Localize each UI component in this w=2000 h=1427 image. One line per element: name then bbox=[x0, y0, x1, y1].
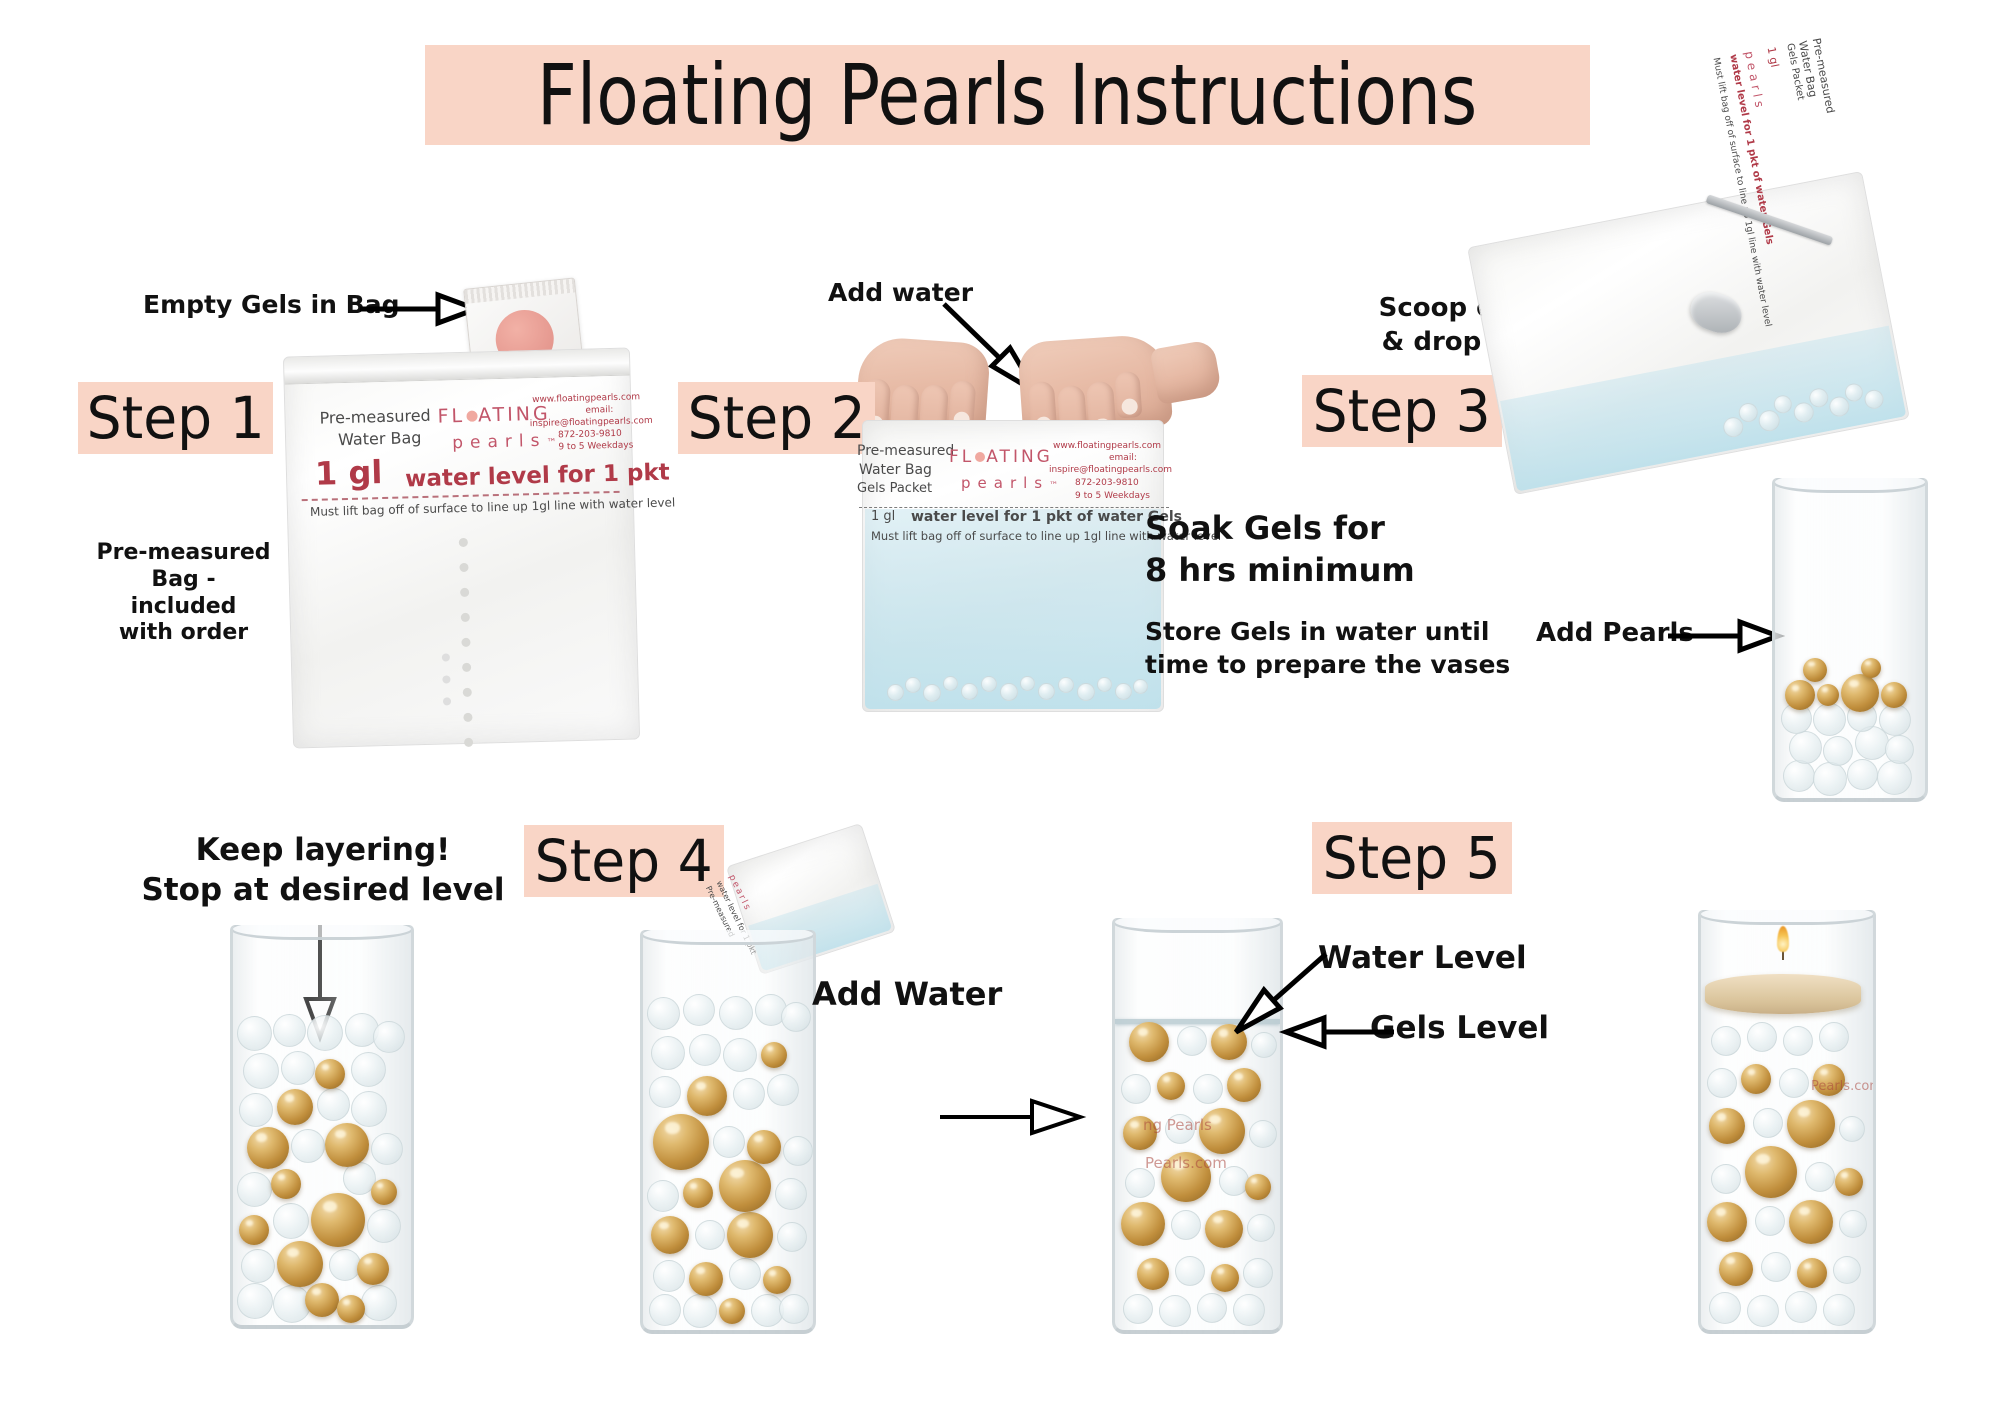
gel-bead bbox=[647, 1180, 679, 1212]
gel-bead bbox=[1847, 759, 1878, 790]
gel-bead bbox=[719, 996, 753, 1030]
bag2-website: www.floatingpearls.com bbox=[1053, 441, 1161, 451]
gel-bead bbox=[683, 994, 715, 1026]
step-chip-4: Step 4 bbox=[524, 825, 724, 897]
gold-pearl bbox=[1707, 1202, 1747, 1242]
gel-bead bbox=[1819, 1022, 1849, 1052]
gold-pearl bbox=[1881, 682, 1907, 708]
gold-pearl bbox=[277, 1089, 313, 1125]
vase-rim bbox=[1112, 918, 1283, 933]
gold-pearl bbox=[689, 1262, 723, 1296]
bag-email: inspire@floatingpearls.com bbox=[530, 416, 653, 429]
gel-bead bbox=[237, 1283, 273, 1319]
gel-bead bbox=[1159, 1295, 1191, 1327]
gel-beads-row bbox=[863, 669, 1163, 703]
callout-water-level: Water Level bbox=[1318, 940, 1527, 978]
gel-bead bbox=[1097, 677, 1112, 692]
bag-email-label: email: bbox=[585, 405, 613, 416]
gold-pearl bbox=[1245, 1174, 1271, 1200]
callout-soak-body: Store Gels in water until time to prepar… bbox=[1145, 615, 1510, 681]
gel-bead bbox=[1133, 679, 1148, 694]
gel-bead bbox=[775, 1178, 807, 1210]
gel-bead bbox=[1115, 683, 1132, 700]
gel-bead bbox=[905, 677, 921, 693]
gel-bead bbox=[649, 1294, 681, 1326]
callout-keep-layering: Keep layering! Stop at desired level bbox=[133, 830, 513, 911]
gel-bead bbox=[1833, 1256, 1861, 1284]
gel-bead bbox=[1785, 1291, 1817, 1323]
gel-bead bbox=[713, 1126, 745, 1158]
gold-pearl bbox=[761, 1042, 787, 1068]
bag2-waterbag-text: Water Bag bbox=[859, 462, 932, 478]
gel-bead bbox=[239, 1093, 273, 1127]
gel-bead bbox=[1813, 703, 1846, 736]
vase-rim bbox=[230, 925, 414, 940]
gel-bead bbox=[1879, 704, 1911, 736]
gold-pearl bbox=[311, 1193, 365, 1247]
gel-bead bbox=[1123, 1294, 1153, 1324]
gel-bead bbox=[307, 1015, 343, 1051]
gel-bead bbox=[1243, 1258, 1273, 1288]
gold-pearl bbox=[1227, 1068, 1261, 1102]
vase-contents-final: Pearls.com bbox=[1701, 932, 1873, 1330]
gold-pearl bbox=[683, 1178, 713, 1208]
gel-bead bbox=[281, 1051, 315, 1085]
vase-contents-step4 bbox=[643, 958, 813, 1330]
gel-bead bbox=[1165, 1114, 1195, 1144]
gel-bead bbox=[1783, 1026, 1813, 1056]
tilted-bag-group: Pre-measured Water Bag Gels Packet 1 gl … bbox=[1467, 168, 1933, 523]
gel-bead bbox=[1219, 1166, 1249, 1196]
gold-pearl bbox=[1741, 1064, 1771, 1094]
gel-bead bbox=[1020, 676, 1035, 691]
packet-seal bbox=[464, 279, 575, 304]
gold-pearl bbox=[719, 1298, 745, 1324]
vase-rim bbox=[1698, 910, 1876, 925]
gel-bead bbox=[1839, 1210, 1867, 1238]
gel-bead bbox=[1171, 1210, 1201, 1240]
bag2-premeasured-text: Pre-measured bbox=[857, 443, 954, 459]
vase-rim bbox=[640, 930, 816, 945]
bag3-label-block: Pre-measured Water Bag Gels Packet 1 gl … bbox=[1602, 32, 1856, 223]
gel-bead bbox=[237, 1016, 272, 1051]
gel-bead bbox=[1711, 1026, 1741, 1056]
gold-pearl bbox=[1121, 1202, 1165, 1246]
gel-bead bbox=[733, 1078, 765, 1110]
gel-bead bbox=[273, 1014, 306, 1047]
water-bag-step3: Pre-measured Water Bag Gels Packet 1 gl … bbox=[1467, 171, 1910, 495]
gel-bead bbox=[1805, 1162, 1835, 1192]
gel-bead bbox=[371, 1133, 403, 1165]
bag-dot-column bbox=[459, 538, 474, 763]
gold-pearl bbox=[1709, 1108, 1745, 1144]
gel-bead bbox=[1789, 731, 1822, 764]
bag-website: www.floatingpearls.com bbox=[532, 392, 640, 405]
gel-bead bbox=[1711, 1164, 1741, 1194]
bag3-volume: 1 gl bbox=[1765, 46, 1782, 69]
gold-pearl bbox=[1803, 658, 1827, 682]
gel-bead bbox=[923, 684, 941, 702]
gel-bead bbox=[1813, 762, 1847, 796]
gel-bead bbox=[329, 1249, 361, 1281]
gel-bead bbox=[1707, 1068, 1737, 1098]
gold-pearl bbox=[271, 1169, 301, 1199]
gel-bead bbox=[961, 683, 978, 700]
vase-step4 bbox=[640, 930, 816, 1334]
gold-pearl bbox=[1211, 1264, 1239, 1292]
gel-bead bbox=[1747, 1022, 1777, 1052]
page-title: Floating Pearls Instructions bbox=[537, 46, 1477, 144]
gel-bead bbox=[649, 1076, 681, 1108]
arrow-transition-icon bbox=[940, 1095, 1090, 1145]
gold-pearl bbox=[337, 1295, 365, 1323]
gel-bead bbox=[1709, 1292, 1741, 1324]
step-5-label: Step 5 bbox=[1323, 824, 1501, 892]
gel-bead bbox=[1125, 1168, 1155, 1198]
gel-bead bbox=[1233, 1294, 1265, 1326]
gel-bead bbox=[1823, 736, 1853, 766]
bag2-brand-pearls: pearls™ bbox=[961, 473, 1058, 492]
gold-pearl bbox=[325, 1123, 369, 1167]
step-chip-5: Step 5 bbox=[1312, 822, 1512, 894]
bag-water-level-line: water level for 1 pkt bbox=[405, 460, 670, 493]
callout-soak-heading: Soak Gels for 8 hrs minimum bbox=[1145, 508, 1415, 591]
step-4-label: Step 4 bbox=[535, 827, 713, 895]
gold-pearl bbox=[1817, 684, 1839, 706]
bag-dot-column-2 bbox=[442, 653, 452, 719]
gel-bead bbox=[1249, 1120, 1277, 1148]
bag2-gelspacket-text: Gels Packet bbox=[857, 481, 932, 496]
gold-pearl bbox=[1785, 680, 1815, 710]
gold-pearl bbox=[1129, 1022, 1169, 1062]
callout-premeasured-bag: Pre-measured Bag - included with order bbox=[96, 540, 271, 647]
gold-pearl bbox=[315, 1059, 345, 1089]
gel-bead bbox=[237, 1172, 272, 1207]
gel-bead bbox=[351, 1091, 387, 1127]
gold-pearl bbox=[719, 1160, 771, 1212]
gold-pearl bbox=[305, 1283, 339, 1317]
gel-bead bbox=[241, 1249, 275, 1283]
gold-pearl bbox=[1205, 1210, 1243, 1248]
gel-bead bbox=[981, 676, 997, 692]
gel-bead bbox=[1077, 683, 1095, 701]
step-3-label: Step 3 bbox=[1313, 377, 1491, 445]
gel-bead bbox=[1121, 1074, 1151, 1104]
infographic-canvas: Floating Pearls Instructions Empty Gels … bbox=[0, 0, 2000, 1427]
gel-bead bbox=[1038, 683, 1055, 700]
gel-bead bbox=[723, 1038, 757, 1072]
fingernail bbox=[1121, 398, 1138, 415]
gold-pearl bbox=[1157, 1072, 1185, 1100]
gold-pearl bbox=[1797, 1258, 1827, 1288]
gold-pearl bbox=[1745, 1146, 1797, 1198]
gel-bead bbox=[1247, 1214, 1275, 1242]
gel-bead bbox=[1839, 1116, 1865, 1142]
bag2-fill-dashline bbox=[859, 507, 1169, 508]
arrow-add-pearls-icon bbox=[1668, 620, 1788, 664]
finger bbox=[1114, 371, 1142, 419]
gold-pearl bbox=[1161, 1152, 1211, 1202]
gel-bead bbox=[1058, 677, 1074, 693]
gold-pearl bbox=[1861, 658, 1881, 678]
gel-bead bbox=[1779, 1068, 1809, 1098]
bag-premeasured-text: Pre-measured bbox=[319, 406, 431, 428]
right-forearm bbox=[1150, 339, 1223, 405]
gel-bead bbox=[695, 1220, 725, 1250]
gel-bead bbox=[1823, 1294, 1855, 1326]
gel-bead bbox=[653, 1260, 685, 1292]
bag-brand-pearls: pearls™ bbox=[452, 430, 557, 453]
gel-bead bbox=[1753, 1108, 1783, 1138]
gold-pearl bbox=[1787, 1100, 1835, 1148]
gel-bead bbox=[1761, 1252, 1791, 1282]
gold-pearl bbox=[1123, 1116, 1157, 1150]
gel-bead bbox=[1863, 388, 1885, 410]
gel-bead bbox=[1193, 1074, 1223, 1104]
arrow-gels-level-icon bbox=[1286, 1012, 1396, 1058]
gel-bead bbox=[1755, 1206, 1785, 1236]
bag-phone: 872-203-9810 bbox=[558, 429, 622, 441]
gel-bead bbox=[1747, 1295, 1779, 1327]
gel-bead bbox=[943, 676, 958, 691]
gel-bead bbox=[887, 684, 904, 701]
gel-bead bbox=[683, 1294, 717, 1328]
gel-bead bbox=[1175, 1256, 1205, 1286]
gel-bead bbox=[317, 1088, 350, 1121]
water-bag-step2: Pre-measured Water Bag Gels Packet FLATI… bbox=[862, 420, 1164, 712]
step-2-label: Step 2 bbox=[687, 384, 865, 452]
floating-candle bbox=[1705, 974, 1861, 1014]
bag-volume: 1 gl bbox=[315, 453, 383, 493]
gel-bead bbox=[361, 1285, 397, 1321]
gold-pearl bbox=[1841, 674, 1879, 712]
step-1-label: Step 1 bbox=[86, 384, 264, 452]
gold-pearl bbox=[763, 1266, 791, 1294]
gel-bead bbox=[689, 1034, 721, 1066]
gold-pearl bbox=[247, 1127, 289, 1169]
gel-bead bbox=[783, 1136, 813, 1166]
vase-final-with-candle: Pearls.com bbox=[1698, 910, 1876, 1334]
gel-bead bbox=[273, 1203, 309, 1239]
gold-pearl bbox=[239, 1215, 269, 1245]
gel-bead bbox=[767, 1074, 799, 1106]
gel-bead bbox=[373, 1021, 405, 1053]
step-chip-3: Step 3 bbox=[1302, 375, 1502, 447]
gel-bead bbox=[1877, 760, 1912, 795]
vase-contents-layered bbox=[233, 947, 411, 1325]
gold-pearl bbox=[1835, 1168, 1863, 1196]
gold-pearl bbox=[653, 1114, 709, 1170]
gel-bead bbox=[647, 997, 680, 1030]
page-title-band: Floating Pearls Instructions bbox=[425, 45, 1590, 145]
callout-gels-level: Gels Level bbox=[1370, 1010, 1549, 1048]
bag2-email: inspire@floatingpearls.com bbox=[1049, 465, 1172, 475]
bag2-brand-floating: FLATING bbox=[949, 447, 1053, 467]
gold-pearl bbox=[747, 1130, 781, 1164]
gold-pearl bbox=[1199, 1108, 1245, 1154]
gel-bead bbox=[781, 1002, 811, 1032]
gel-bead bbox=[243, 1053, 279, 1089]
gel-bead bbox=[779, 1294, 809, 1324]
water-bag-step1: Pre-measured Water Bag FLATING pearls™ w… bbox=[283, 348, 640, 749]
step-chip-1: Step 1 bbox=[78, 382, 273, 454]
callout-add-water-step4: Add Water bbox=[812, 975, 1002, 1014]
bag-waterbag-text: Water Bag bbox=[338, 428, 422, 449]
gold-pearl bbox=[1813, 1064, 1845, 1096]
gel-bead bbox=[729, 1258, 761, 1290]
gel-bead bbox=[1885, 735, 1914, 764]
bag-hours: 9 to 5 Weekdays bbox=[558, 440, 633, 452]
step-chip-2: Step 2 bbox=[678, 382, 875, 454]
bag2-phone: 872-203-9810 bbox=[1075, 478, 1139, 488]
vase-rim bbox=[1772, 478, 1928, 493]
vase-step3 bbox=[1772, 478, 1928, 802]
gold-pearl bbox=[727, 1212, 773, 1258]
gel-bead bbox=[351, 1052, 386, 1087]
vase-layered-example bbox=[230, 925, 414, 1329]
gel-bead bbox=[291, 1129, 325, 1163]
gel-bead bbox=[1000, 683, 1018, 701]
gel-bead bbox=[651, 1036, 685, 1070]
gel-bead bbox=[777, 1222, 807, 1252]
gold-pearl bbox=[371, 1179, 397, 1205]
gel-bead bbox=[1177, 1026, 1207, 1056]
bag2-hours: 9 to 5 Weekdays bbox=[1075, 491, 1150, 501]
gold-pearl bbox=[1789, 1200, 1833, 1244]
bag-zip-seal bbox=[284, 349, 630, 385]
gold-pearl bbox=[1719, 1252, 1753, 1286]
gel-bead bbox=[367, 1209, 401, 1243]
bag2-email-label: email: bbox=[1109, 453, 1137, 463]
gold-pearl bbox=[651, 1216, 689, 1254]
gel-bead bbox=[1783, 760, 1815, 792]
bag2-volume: 1 gl bbox=[871, 509, 895, 524]
gold-pearl bbox=[277, 1241, 323, 1287]
gel-bead bbox=[1197, 1293, 1227, 1323]
gold-pearl bbox=[687, 1076, 727, 1116]
bag2-water-level-line: water level for 1 pkt of water Gels bbox=[911, 509, 1182, 525]
vase-contents-step3 bbox=[1775, 608, 1925, 798]
gold-pearl bbox=[1137, 1258, 1169, 1290]
gold-pearl bbox=[357, 1253, 389, 1285]
